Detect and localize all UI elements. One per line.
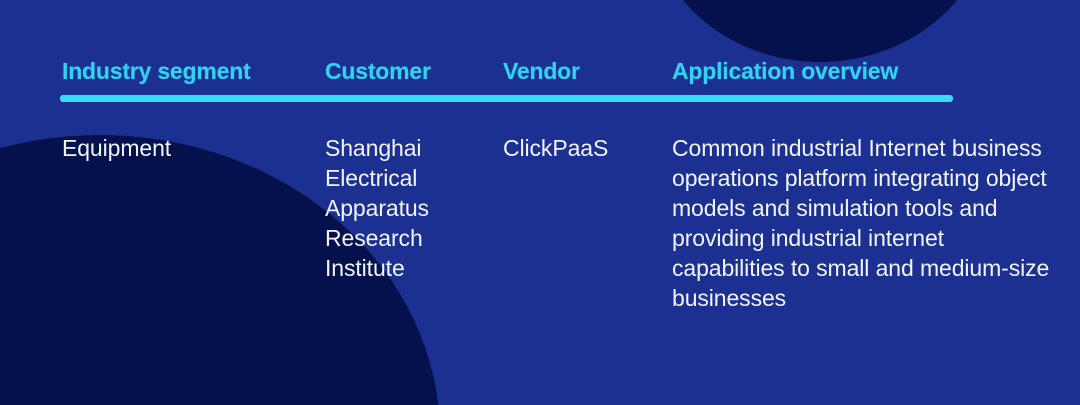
slide-canvas: Industry segment Customer Vendor Applica…: [0, 0, 1080, 405]
cell-application-overview: Common industrial Internet business oper…: [672, 133, 1050, 313]
table-header-row: Industry segment Customer Vendor Applica…: [60, 58, 1020, 92]
cell-vendor: ClickPaaS: [503, 133, 663, 163]
column-header-vendor: Vendor: [503, 58, 580, 85]
cell-customer: Shanghai Electrical Apparatus Research I…: [325, 133, 490, 283]
column-header-industry-segment: Industry segment: [62, 58, 251, 85]
cell-industry-segment: Equipment: [62, 133, 302, 163]
column-header-application-overview: Application overview: [672, 58, 898, 85]
comparison-table: Industry segment Customer Vendor Applica…: [0, 0, 1080, 405]
column-header-customer: Customer: [325, 58, 431, 85]
header-divider: [60, 95, 953, 102]
